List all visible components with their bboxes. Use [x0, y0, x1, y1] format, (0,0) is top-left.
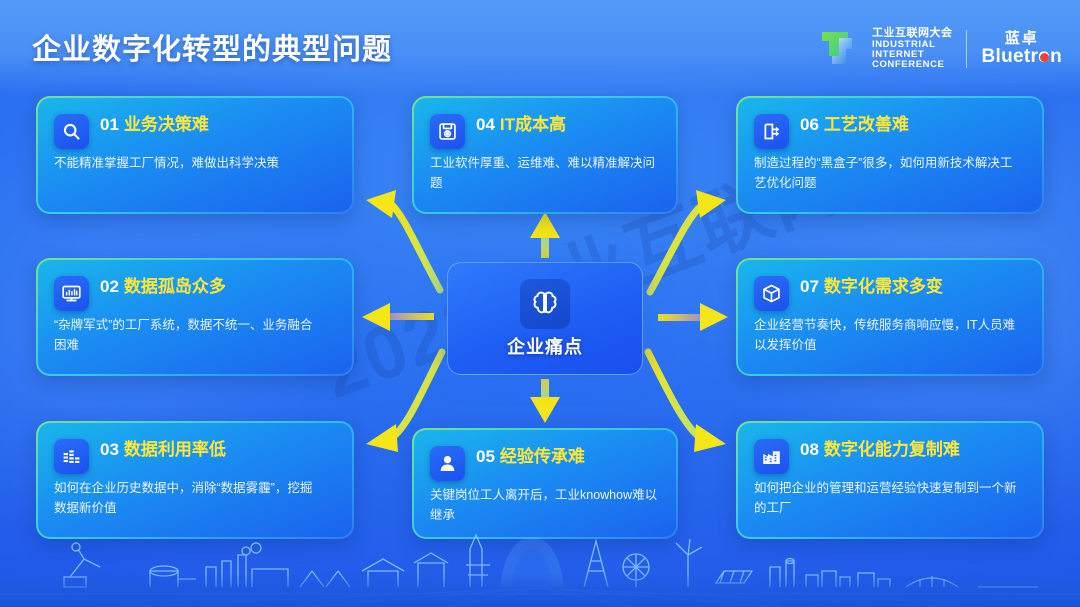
card-name: 数据孤岛众多 — [124, 277, 226, 296]
card-number: 01 — [100, 115, 119, 134]
card-name: 数字化需求多变 — [824, 277, 943, 296]
card-description: 制造过程的“黑盒子”很多，如何用新技术解决工艺优化问题 — [754, 154, 1022, 194]
conference-name-en-3: CONFERENCE — [872, 60, 953, 70]
card-description: 如何把企业的管理和运营经验快速复制到一个新的工厂 — [754, 479, 1022, 519]
conference-text: 工业互联网大会 INDUSTRIAL INTERNET CONFERENCE — [872, 28, 953, 69]
card-name: 经验传承难 — [500, 447, 585, 466]
monitor-chart-icon — [54, 276, 89, 311]
brain-icon — [520, 279, 570, 329]
conference-logo: 工业互联网大会 INDUSTRIAL INTERNET CONFERENCE — [818, 26, 953, 72]
card-number: 08 — [800, 440, 819, 459]
card-name: 数字化能力复制难 — [824, 440, 960, 459]
problem-card-01[interactable]: 01业务决策难 不能精准掌握工厂情况，难做出科学决策 — [36, 96, 354, 214]
cube-icon — [754, 276, 789, 311]
card-title: 06工艺改善难 — [800, 115, 909, 135]
floppy-disk-icon — [430, 114, 465, 149]
card-number: 06 — [800, 115, 819, 134]
bar-chart-icon — [54, 439, 89, 474]
problem-card-07[interactable]: 07数字化需求多变 企业经营节奏快，传统服务商响应慢，IT人员难以发挥价值 — [736, 258, 1044, 376]
process-flow-icon — [754, 114, 789, 149]
card-number: 05 — [476, 447, 495, 466]
brand-name-en-text: Bluetron — [981, 46, 1062, 67]
card-description: 如何在企业历史数据中，消除“数据雾霾”，挖掘数据新价值 — [54, 479, 322, 519]
problem-card-04[interactable]: 04IT成本高 工业软件厚重、运维难、难以精准解决问题 — [412, 96, 678, 214]
arrow-down-to-card-05 — [530, 379, 560, 423]
brand-name-cn: 蓝卓 — [1005, 31, 1039, 47]
card-description: 工业软件厚重、运维难、难以精准解决问题 — [430, 154, 660, 194]
hub-label: 企业痛点 — [507, 333, 583, 359]
card-name: IT成本高 — [500, 115, 566, 134]
problem-card-06[interactable]: 06工艺改善难 制造过程的“黑盒子”很多，如何用新技术解决工艺优化问题 — [736, 96, 1044, 214]
bottom-gradient-bar — [0, 573, 1080, 607]
card-title: 04IT成本高 — [476, 115, 566, 135]
person-icon — [430, 446, 465, 481]
center-hub[interactable]: 企业痛点 — [447, 262, 643, 375]
card-number: 02 — [100, 277, 119, 296]
brand-logo: 蓝卓 Bluetron — [981, 31, 1062, 67]
arrow-left-to-card-02 — [362, 303, 434, 331]
card-name: 工艺改善难 — [824, 115, 909, 134]
logo-divider — [966, 30, 967, 68]
logo-zone: 工业互联网大会 INDUSTRIAL INTERNET CONFERENCE 蓝… — [818, 20, 1062, 78]
card-name: 数据利用率低 — [124, 440, 226, 459]
card-title: 05经验传承难 — [476, 447, 585, 467]
card-title: 08数字化能力复制难 — [800, 440, 960, 460]
card-title: 03数据利用率低 — [100, 440, 226, 460]
card-name: 业务决策难 — [124, 115, 209, 134]
card-number: 07 — [800, 277, 819, 296]
conference-mark-icon — [818, 26, 864, 72]
page-title: 企业数字化转型的典型问题 — [32, 26, 392, 68]
card-description: “杂牌军式”的工厂系统，数据不统一、业务融合困难 — [54, 316, 322, 356]
card-title: 07数字化需求多变 — [800, 277, 943, 297]
card-description: 不能精准掌握工厂情况，难做出科学决策 — [54, 154, 322, 174]
brand-name-en: Bluetron — [981, 47, 1062, 67]
card-description: 企业经营节奏快，传统服务商响应慢，IT人员难以发挥价值 — [754, 316, 1022, 356]
card-title: 01业务决策难 — [100, 115, 209, 135]
factory-icon — [754, 439, 789, 474]
slide-canvas: 企业数字化转型的典型问题 工业互联网 — [0, 0, 1080, 607]
card-number: 03 — [100, 440, 119, 459]
card-title: 02数据孤岛众多 — [100, 277, 226, 297]
problem-card-02[interactable]: 02数据孤岛众多 “杂牌军式”的工厂系统，数据不统一、业务融合困难 — [36, 258, 354, 376]
card-number: 04 — [476, 115, 495, 134]
brand-accent-dot — [1040, 53, 1049, 62]
arrow-up-to-card-04 — [530, 212, 560, 258]
search-icon — [54, 114, 89, 149]
